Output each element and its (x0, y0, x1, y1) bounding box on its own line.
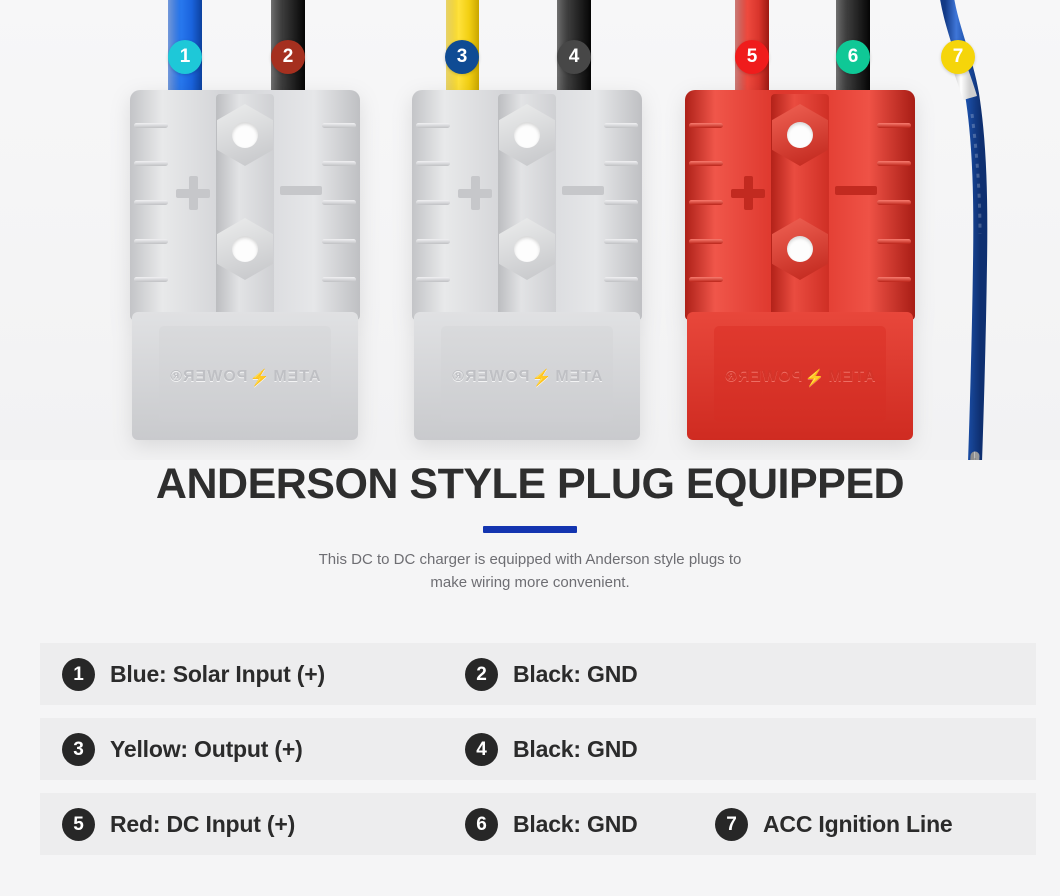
brand-logo-atem-power: ATEM⚡POWER® (441, 368, 613, 388)
plus-symbol-icon (458, 176, 492, 210)
legend-item-3: 3 Yellow: Output (+) (62, 718, 303, 780)
legend-item-4: 4 Black: GND (465, 718, 638, 780)
legend-label-3: Yellow: Output (+) (110, 736, 303, 763)
registered-mark: ® (169, 368, 182, 385)
legend-row: 5 Red: DC Input (+) 6 Black: GND 7 ACC I… (40, 793, 1036, 855)
legend-item-7: 7 ACC Ignition Line (715, 793, 953, 855)
legend-label-5: Red: DC Input (+) (110, 811, 295, 838)
connector-label-plate: ATEM⚡POWER® (714, 326, 886, 422)
legend-item-5: 5 Red: DC Input (+) (62, 793, 295, 855)
title-section: ANDERSON STYLE PLUG EQUIPPED This DC to … (0, 462, 1060, 595)
subtitle-line-2: make wiring more convenient. (0, 571, 1060, 594)
product-hero-image: ATEM⚡POWER® (0, 0, 1060, 460)
wire-legend: 1 Blue: Solar Input (+) 2 Black: GND 3 Y… (40, 643, 1036, 868)
brand-text-atem: ATEM (828, 368, 876, 385)
hex-nut-hole (232, 122, 258, 148)
callout-badge-7[interactable]: 7 (941, 40, 975, 74)
connector-foot: ATEM⚡POWER® (687, 312, 913, 440)
legend-label-6: Black: GND (513, 811, 638, 838)
legend-badge-6: 6 (465, 808, 498, 841)
bolt-icon: ⚡ (805, 368, 826, 388)
registered-mark: ® (451, 368, 464, 385)
wire-blue-acc-ignition (925, 0, 1045, 460)
legend-label-7: ACC Ignition Line (763, 811, 953, 838)
callout-badge-1[interactable]: 1 (168, 40, 202, 74)
legend-item-1: 1 Blue: Solar Input (+) (62, 643, 325, 705)
brand-text-power: POWER (464, 368, 529, 385)
bolt-icon: ⚡ (250, 368, 271, 388)
legend-badge-2: 2 (465, 658, 498, 691)
hex-nut-hole (787, 236, 813, 262)
legend-badge-7: 7 (715, 808, 748, 841)
bolt-icon: ⚡ (532, 368, 553, 388)
brand-logo-atem-power: ATEM⚡POWER® (159, 368, 331, 388)
hex-nut-hole (787, 122, 813, 148)
connector-foot: ATEM⚡POWER® (132, 312, 358, 440)
connector-gray-left: ATEM⚡POWER® (130, 90, 360, 442)
callout-badge-6[interactable]: 6 (836, 40, 870, 74)
brand-text-power: POWER (182, 368, 247, 385)
registered-mark: ® (724, 368, 737, 385)
legend-label-4: Black: GND (513, 736, 638, 763)
accent-divider (483, 526, 577, 533)
brand-logo-atem-power: ATEM⚡POWER® (714, 368, 886, 388)
subtitle-line-1: This DC to DC charger is equipped with A… (0, 548, 1060, 571)
brand-text-atem: ATEM (273, 368, 321, 385)
minus-symbol-icon (835, 186, 877, 195)
legend-item-6: 6 Black: GND (465, 793, 638, 855)
legend-row: 1 Blue: Solar Input (+) 2 Black: GND (40, 643, 1036, 705)
callout-badge-2[interactable]: 2 (271, 40, 305, 74)
connector-gray-middle: ATEM⚡POWER® (412, 90, 642, 442)
callout-badge-5[interactable]: 5 (735, 40, 769, 74)
legend-badge-1: 1 (62, 658, 95, 691)
brand-text-atem: ATEM (555, 368, 603, 385)
connector-label-plate: ATEM⚡POWER® (159, 326, 331, 422)
legend-item-2: 2 Black: GND (465, 643, 638, 705)
connector-ribs-left (689, 100, 723, 305)
connector-foot: ATEM⚡POWER® (414, 312, 640, 440)
brand-text-power: POWER (737, 368, 802, 385)
minus-symbol-icon (562, 186, 604, 195)
callout-badge-4[interactable]: 4 (557, 40, 591, 74)
connector-label-plate: ATEM⚡POWER® (441, 326, 613, 422)
minus-symbol-icon (280, 186, 322, 195)
legend-badge-5: 5 (62, 808, 95, 841)
connector-ribs-left (416, 100, 450, 305)
page-title: ANDERSON STYLE PLUG EQUIPPED (0, 462, 1060, 507)
legend-row: 3 Yellow: Output (+) 4 Black: GND (40, 718, 1036, 780)
hex-nut-hole (232, 236, 258, 262)
plus-symbol-icon (731, 176, 765, 210)
plus-symbol-icon (176, 176, 210, 210)
hex-nut-hole (514, 122, 540, 148)
connector-ribs-right (877, 100, 911, 305)
hex-nut-hole (514, 236, 540, 262)
legend-badge-3: 3 (62, 733, 95, 766)
legend-label-1: Blue: Solar Input (+) (110, 661, 325, 688)
connector-ribs-right (604, 100, 638, 305)
legend-badge-4: 4 (465, 733, 498, 766)
callout-badge-3[interactable]: 3 (445, 40, 479, 74)
legend-label-2: Black: GND (513, 661, 638, 688)
connector-red-right: ATEM⚡POWER® (685, 90, 915, 442)
connector-ribs-right (322, 100, 356, 305)
connector-ribs-left (134, 100, 168, 305)
